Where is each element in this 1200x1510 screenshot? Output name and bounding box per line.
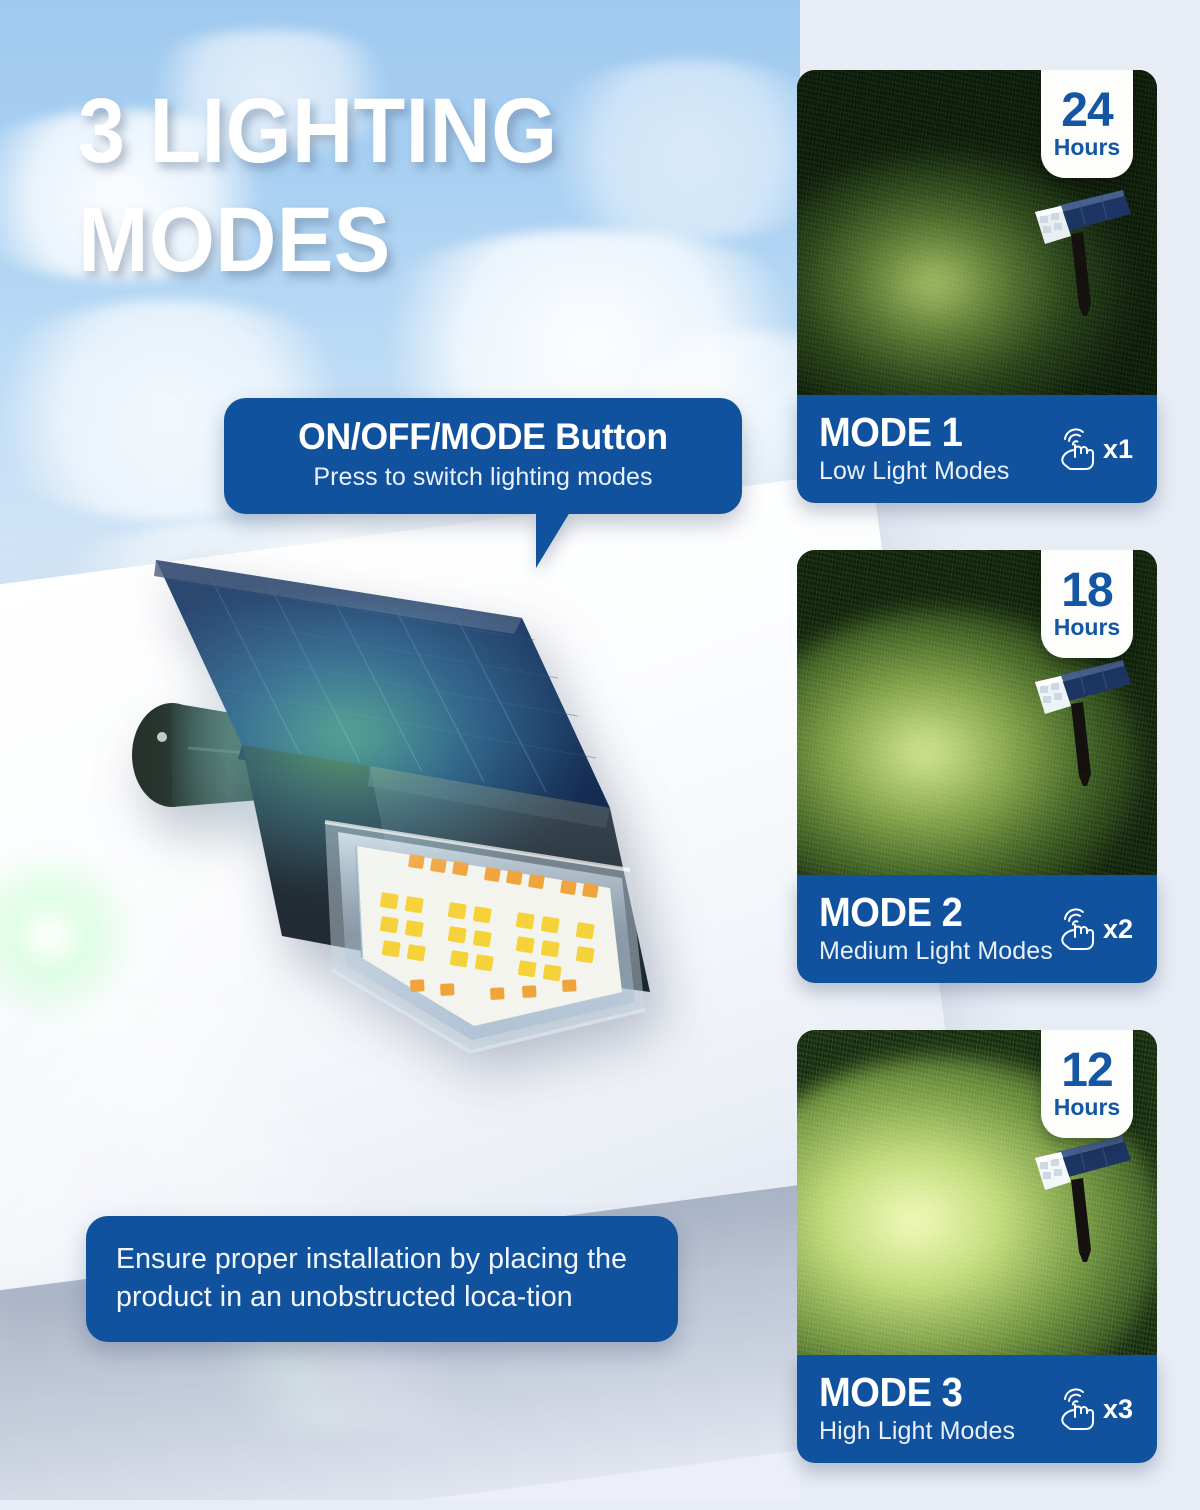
mode-subtitle: High Light Modes (819, 1418, 1056, 1446)
tap-hand-icon (1056, 1386, 1100, 1432)
mode-title: MODE 1 (819, 412, 1039, 453)
mode-photo: 24 Hours (797, 70, 1157, 395)
hours-unit: Hours (1054, 1096, 1120, 1119)
hours-value: 12 (1061, 1049, 1112, 1093)
hours-value: 18 (1061, 569, 1112, 613)
solar-spotlight-icon (1027, 636, 1135, 786)
headline-line-2: MODES (78, 197, 685, 284)
mode-label-bar: MODE 1 Low Light Modes x1 (797, 395, 1157, 503)
hours-unit: Hours (1054, 136, 1120, 159)
hours-value: 24 (1061, 89, 1112, 133)
mode-card-list: 24 Hours MODE 1 Low Light Modes (797, 70, 1157, 1510)
page-title: 3 LIGHTING MODES (78, 88, 685, 285)
installation-note: Ensure proper installation by placing th… (86, 1216, 678, 1342)
mode-card[interactable]: 24 Hours MODE 1 Low Light Modes (797, 70, 1157, 503)
tap-indicator: x3 (1056, 1386, 1135, 1432)
tap-indicator: x2 (1056, 906, 1135, 952)
mode-subtitle: Medium Light Modes (819, 938, 1056, 966)
tap-count: x3 (1103, 1394, 1133, 1425)
headline-line-1: 3 LIGHTING (78, 80, 558, 182)
tap-count: x1 (1103, 434, 1133, 465)
mode-title: MODE 2 (819, 892, 1039, 933)
mode-label-bar: MODE 3 High Light Modes x3 (797, 1355, 1157, 1463)
mode-label-bar: MODE 2 Medium Light Modes x2 (797, 875, 1157, 983)
mode-photo: 18 Hours (797, 550, 1157, 875)
mode-card[interactable]: 12 Hours MODE 3 High Light Modes (797, 1030, 1157, 1463)
mode-card[interactable]: 18 Hours MODE 2 Medium Light Modes (797, 550, 1157, 983)
solar-spotlight-icon (1027, 166, 1135, 316)
tap-hand-icon (1056, 906, 1100, 952)
callout-subtitle: Press to switch lighting modes (250, 463, 716, 492)
hours-badge: 18 Hours (1041, 550, 1133, 658)
onoff-mode-callout: ON/OFF/MODE Button Press to switch light… (224, 398, 742, 514)
callout-tail (536, 512, 570, 568)
hours-badge: 12 Hours (1041, 1030, 1133, 1138)
product-solar-wall-light (110, 540, 700, 1070)
mode-title: MODE 3 (819, 1372, 1039, 1413)
tap-count: x2 (1103, 914, 1133, 945)
mode-subtitle: Low Light Modes (819, 458, 1056, 486)
mode-photo: 12 Hours (797, 1030, 1157, 1355)
hours-badge: 24 Hours (1041, 70, 1133, 178)
installation-note-text: Ensure proper installation by placing th… (116, 1240, 648, 1316)
tap-hand-icon (1056, 426, 1100, 472)
hours-unit: Hours (1054, 616, 1120, 639)
tap-indicator: x1 (1056, 426, 1135, 472)
callout-title: ON/OFF/MODE Button (259, 418, 706, 457)
